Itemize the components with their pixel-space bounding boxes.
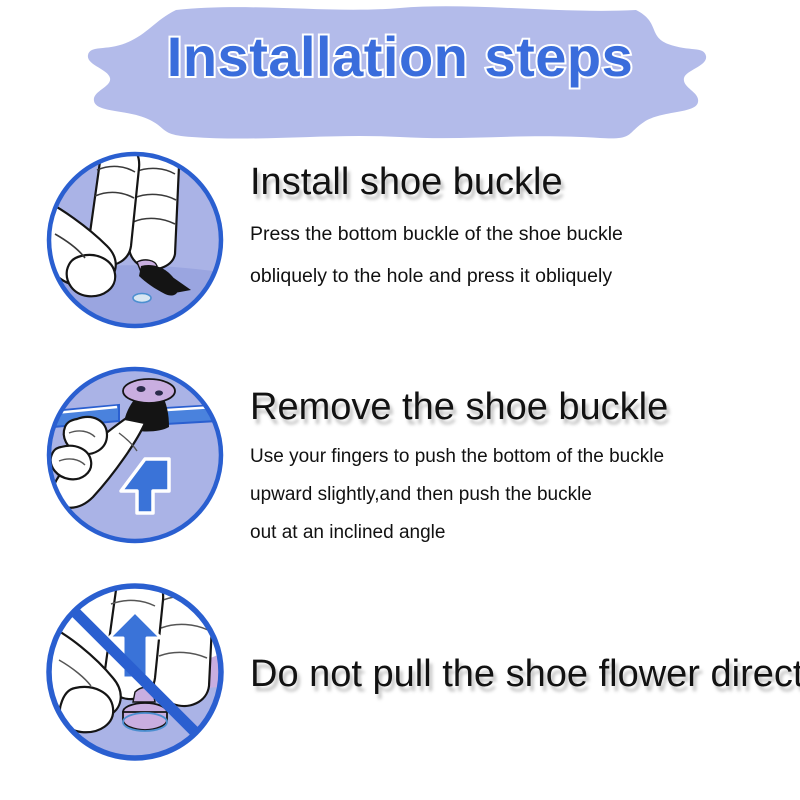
step-1-body-line-1: Press the bottom buckle of the shoe buck… bbox=[250, 225, 790, 245]
step-1-body-line-2: obliquely to the hole and press it obliq… bbox=[250, 267, 790, 287]
step-3-heading: Do not pull the shoe flower directly bbox=[250, 654, 790, 695]
remove-shoe-buckle-illustration bbox=[45, 365, 225, 545]
step-2-body-line-1: Use your fingers to push the bottom of t… bbox=[250, 447, 790, 466]
step-3-text-block: Do not pull the shoe flower directly bbox=[250, 654, 790, 695]
step-1-text-block: Install shoe buckle Press the bottom buc… bbox=[250, 162, 790, 286]
step-1-heading: Install shoe buckle bbox=[250, 162, 790, 203]
install-shoe-buckle-illustration bbox=[45, 150, 225, 330]
page-title: Installation steps bbox=[0, 29, 800, 85]
step-remove-shoe-buckle: Remove the shoe buckle Use your fingers … bbox=[0, 365, 800, 545]
do-not-pull-shoe-flower-illustration bbox=[45, 582, 225, 762]
page-banner: Installation steps bbox=[0, 0, 800, 145]
step-2-body-line-3: out at an inclined angle bbox=[250, 523, 790, 542]
step-2-heading: Remove the shoe buckle bbox=[250, 387, 790, 428]
step-1-body: Press the bottom buckle of the shoe buck… bbox=[250, 225, 790, 286]
step-2-body: Use your fingers to push the bottom of t… bbox=[250, 447, 790, 542]
step-2-body-line-2: upward slightly,and then push the buckle bbox=[250, 485, 790, 504]
step-2-text-block: Remove the shoe buckle Use your fingers … bbox=[250, 387, 790, 542]
step-install-shoe-buckle: Install shoe buckle Press the bottom buc… bbox=[0, 150, 800, 330]
step-do-not-pull-shoe-flower: Do not pull the shoe flower directly bbox=[0, 582, 800, 762]
